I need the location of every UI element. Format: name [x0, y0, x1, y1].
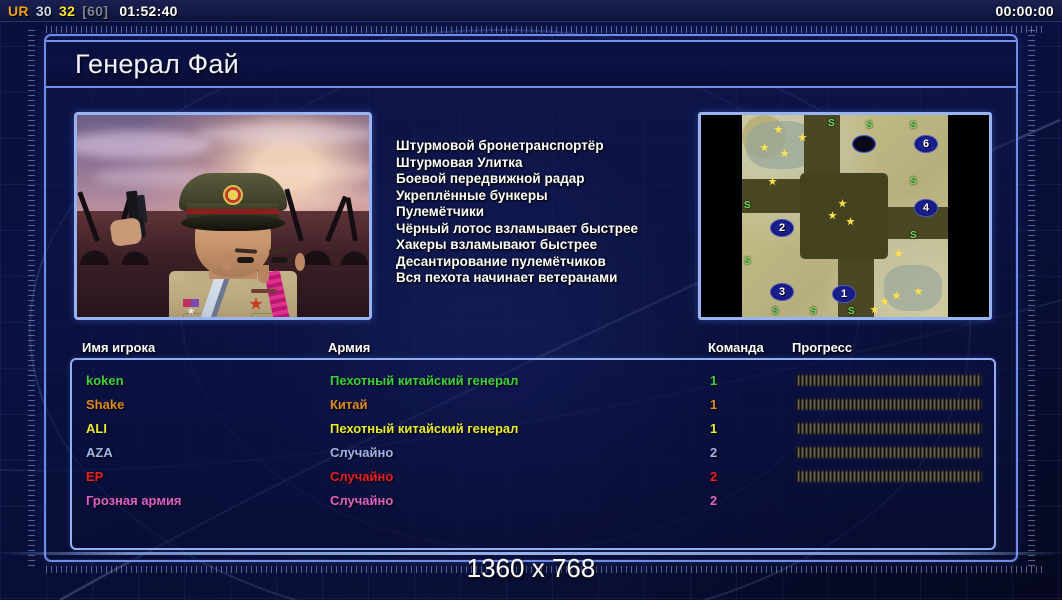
supply-dock-icon: S — [910, 231, 918, 240]
page-title: Генерал Фай — [46, 49, 239, 80]
status-label: UR — [8, 3, 29, 19]
cap-badge-icon — [223, 185, 243, 205]
ability-item: Пулемётчики — [396, 204, 696, 221]
general-portrait — [74, 112, 372, 320]
player-name: Shake — [86, 397, 124, 412]
ruler-left — [28, 30, 35, 570]
player-army: Случайно — [330, 493, 393, 508]
progress-bar — [796, 471, 982, 482]
player-team: 2 — [710, 445, 717, 460]
info-row: Штурмовой бронетранспортёр Штурмовая Ули… — [74, 112, 992, 322]
status-bracket: [60] — [82, 3, 108, 19]
ability-list: Штурмовой бронетранспортёр Штурмовая Ули… — [396, 112, 696, 320]
gold-mine-icon — [894, 249, 903, 258]
table-row[interactable]: kokenПехотный китайский генерал1 — [72, 370, 994, 394]
table-row[interactable]: EPСлучайно2 — [72, 466, 994, 490]
supply-dock-icon: S — [744, 257, 752, 266]
status-right-clock: 00:00:00 — [996, 3, 1054, 19]
progress-bar — [796, 375, 982, 386]
general-figure — [165, 171, 301, 320]
status-value-1: 30 — [36, 3, 52, 19]
ability-item: Чёрный лотос взламывает быстрее — [396, 221, 696, 238]
ruler-top — [46, 26, 1046, 33]
table-row[interactable]: AZAСлучайно2 — [72, 442, 994, 466]
player-list: kokenПехотный китайский генерал1ShakeКит… — [70, 358, 996, 550]
player-team: 1 — [710, 397, 717, 412]
player-army: Случайно — [330, 445, 393, 460]
ability-item: Десантирование пулемётчиков — [396, 254, 696, 271]
player-name: ALI — [86, 421, 107, 436]
footer-bar: 1360 x 768 — [0, 548, 1062, 588]
supply-dock-icon: S — [866, 121, 874, 130]
ruler-right — [1028, 30, 1035, 570]
supply-dock-icon: S — [848, 307, 856, 316]
status-bar: UR 30 32 [60] 01:52:40 00:00:00 — [0, 0, 1062, 22]
minimap[interactable]: SSSSSSSSSS64231 — [698, 112, 992, 320]
start-position-marker[interactable]: 6 — [914, 135, 938, 153]
table-row[interactable]: ALIПехотный китайский генерал1 — [72, 418, 994, 442]
supply-dock-icon: S — [828, 119, 836, 128]
table-header: Имя игрока Армия Команда Прогресс — [74, 340, 992, 358]
status-value-2: 32 — [59, 3, 75, 19]
supply-dock-icon: S — [910, 121, 918, 130]
player-army: Случайно — [330, 469, 393, 484]
column-header-name: Имя игрока — [82, 340, 155, 355]
column-header-team: Команда — [708, 340, 764, 355]
player-army: Пехотный китайский генерал — [330, 373, 518, 388]
progress-bar — [796, 399, 982, 410]
portrait-hand — [109, 217, 142, 247]
start-position-marker[interactable]: 3 — [770, 283, 794, 301]
start-position-marker[interactable]: 2 — [770, 219, 794, 237]
title-bar: Генерал Фай — [46, 40, 1016, 88]
status-clock: 01:52:40 — [119, 3, 177, 19]
player-army: Пехотный китайский генерал — [330, 421, 518, 436]
minimap-terrain: SSSSSSSSSS64231 — [742, 115, 948, 317]
player-team: 2 — [710, 469, 717, 484]
player-team: 1 — [710, 421, 717, 436]
player-army: Китай — [330, 397, 368, 412]
table-row[interactable]: Грозная армияСлучайно2 — [72, 490, 994, 514]
ability-item: Боевой передвижной радар — [396, 171, 696, 188]
start-position-marker[interactable]: 4 — [914, 199, 938, 217]
column-header-army: Армия — [328, 340, 370, 355]
column-header-progress: Прогресс — [792, 340, 852, 355]
resolution-label: 1360 x 768 — [467, 553, 596, 584]
player-team: 1 — [710, 373, 717, 388]
ability-item: Вся пехота начинает ветеранами — [396, 270, 696, 287]
ability-item: Хакеры взламывают быстрее — [396, 237, 696, 254]
supply-dock-icon: S — [810, 307, 818, 316]
progress-bar — [796, 423, 982, 434]
player-name: EP — [86, 469, 103, 484]
player-name: koken — [86, 373, 124, 388]
progress-bar — [796, 447, 982, 458]
supply-dock-icon: S — [772, 307, 780, 316]
ability-item: Штурмовой бронетранспортёр — [396, 138, 696, 155]
table-row[interactable]: ShakeКитай1 — [72, 394, 994, 418]
player-name: Грозная армия — [86, 493, 182, 508]
ability-item: Укреплённые бункеры — [396, 188, 696, 205]
ability-item: Штурмовая Улитка — [396, 155, 696, 172]
start-position-marker[interactable]: 1 — [832, 285, 856, 303]
player-name: AZA — [86, 445, 113, 460]
player-team: 2 — [710, 493, 717, 508]
supply-dock-icon: S — [744, 201, 752, 210]
supply-dock-icon: S — [910, 177, 918, 186]
start-position-marker[interactable] — [852, 135, 876, 153]
